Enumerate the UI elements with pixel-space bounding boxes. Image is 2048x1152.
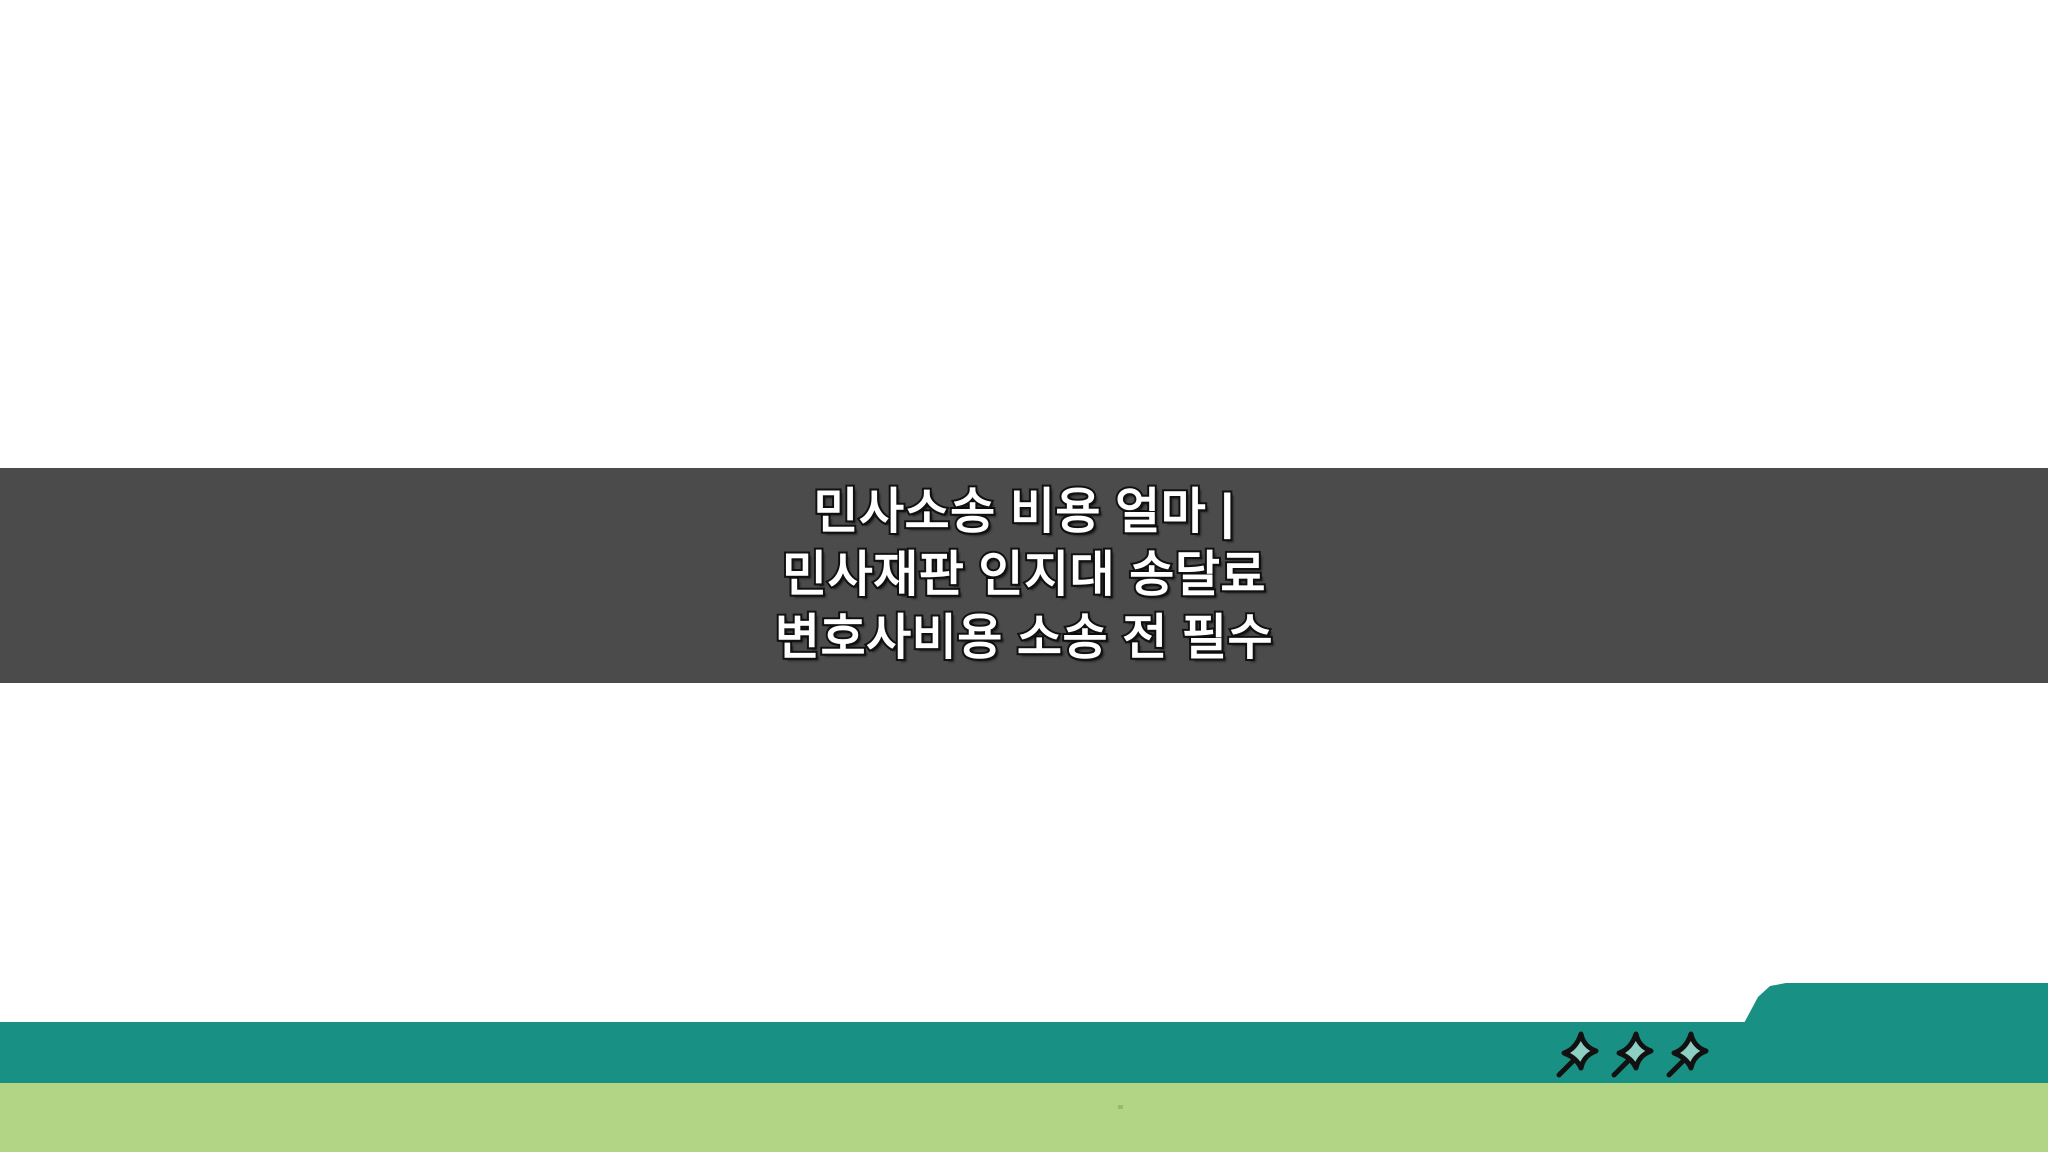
artifact-speck bbox=[1118, 1105, 1123, 1109]
sparkle-pin-group bbox=[1555, 1028, 1735, 1083]
footer-decoration bbox=[0, 960, 2048, 1152]
footer-teal-step bbox=[1700, 983, 2048, 1083]
sparkle-pin-icon bbox=[1555, 1028, 1601, 1078]
title-line-1: 민사소송 비용 얼마 | bbox=[813, 481, 1234, 544]
title-line-2: 민사재판 인지대 송달료 bbox=[782, 544, 1266, 607]
footer-green-band bbox=[0, 1083, 2048, 1152]
sparkle-pin-icon bbox=[1665, 1028, 1711, 1078]
title-banner: 민사소송 비용 얼마 | 민사재판 인지대 송달료 변호사비용 소송 전 필수 bbox=[0, 468, 2048, 683]
thumbnail-canvas: 민사소송 비용 얼마 | 민사재판 인지대 송달료 변호사비용 소송 전 필수 bbox=[0, 0, 2048, 1152]
title-line-3: 변호사비용 소송 전 필수 bbox=[775, 607, 1273, 670]
sparkle-pin-icon bbox=[1610, 1028, 1656, 1078]
